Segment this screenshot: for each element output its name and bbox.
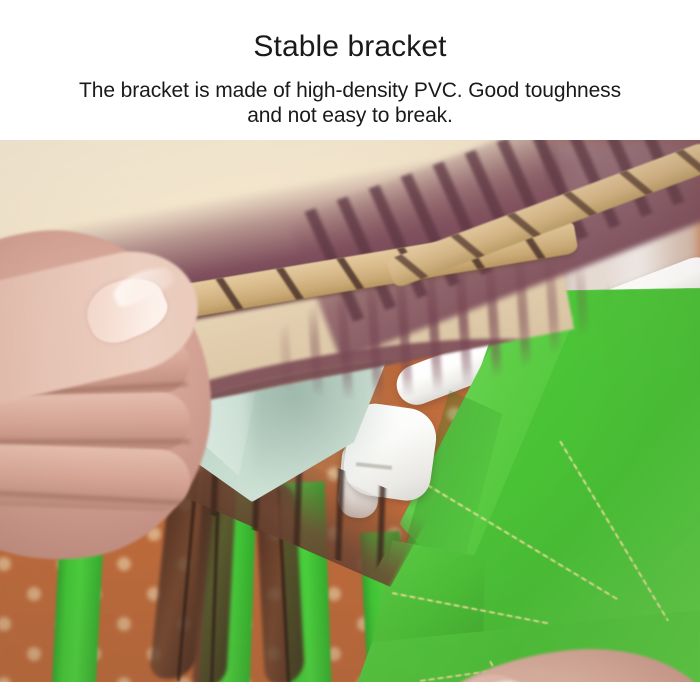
text-header: Stable bracket The bracket is made of hi…	[0, 0, 700, 140]
left-finger-crease-3	[0, 440, 190, 443]
product-photo	[0, 140, 700, 682]
page-title: Stable bracket	[0, 29, 700, 65]
product-feature-image: Stable bracket The bracket is made of hi…	[0, 0, 700, 700]
subtitle-line-1: The bracket is made of high-density PVC.…	[0, 78, 700, 103]
subtitle-line-2: and not easy to break.	[0, 103, 700, 128]
page-subtitle: The bracket is made of high-density PVC.…	[0, 78, 700, 128]
